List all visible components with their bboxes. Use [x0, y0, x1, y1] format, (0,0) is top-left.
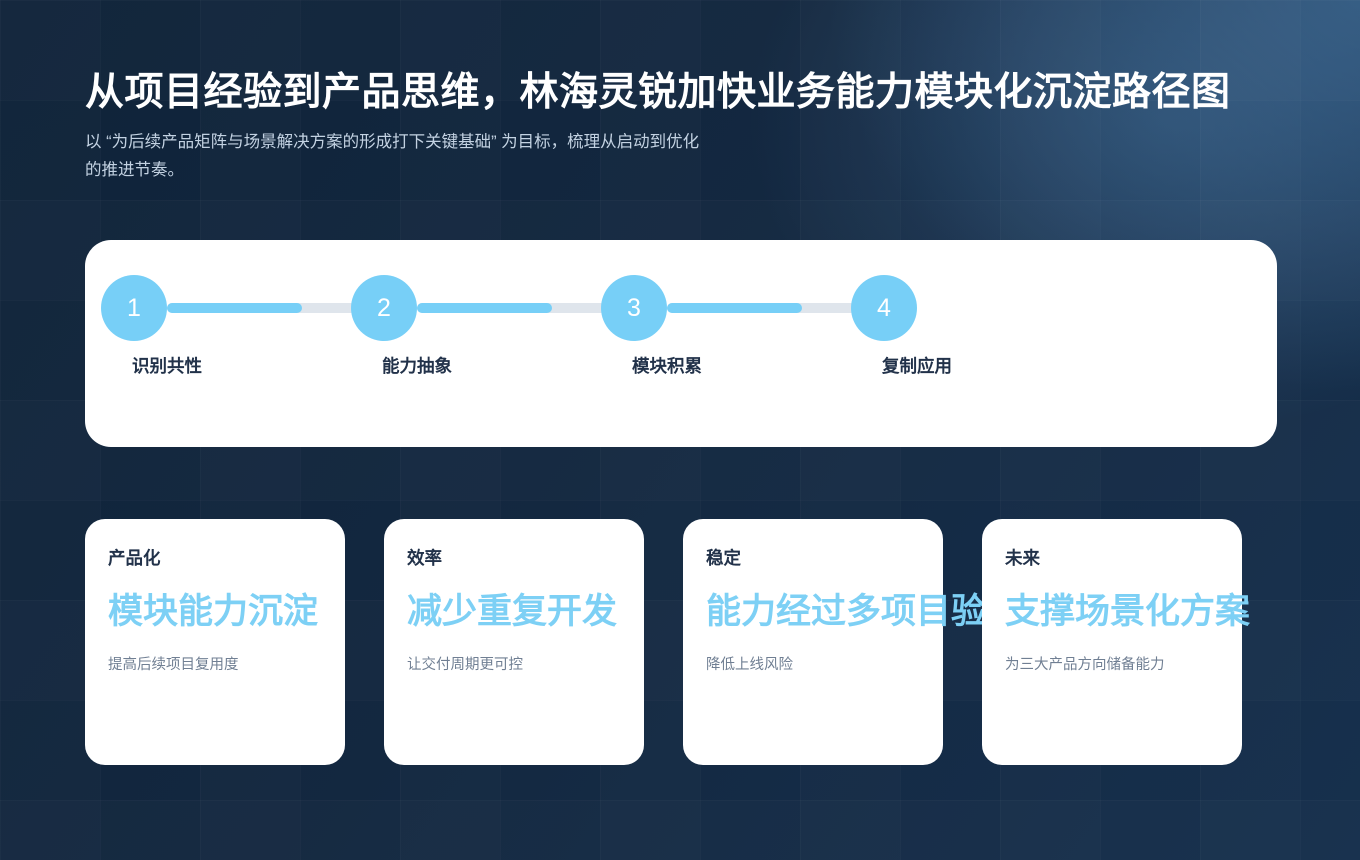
- stepper: 1 识别共性 2 能力抽象 3 模块积累 4 复制应用: [134, 240, 1228, 447]
- step-connector-2-3-fill: [417, 303, 552, 313]
- info-card-4-description: 为三大产品方向储备能力: [1005, 655, 1242, 675]
- header: 从项目经验到产品思维，林海灵锐加快业务能力模块化沉淀路径图 以 “为后续产品矩阵…: [85, 70, 1285, 185]
- page-subtitle: 以 “为后续产品矩阵与场景解决方案的形成打下关键基础” 为目标，梳理从启动到优化…: [85, 128, 1285, 185]
- info-card-3[interactable]: 稳定 能力经过多项目验证 降低上线风险: [683, 519, 943, 765]
- info-card-1-description: 提高后续项目复用度: [108, 655, 345, 675]
- info-card-4-eyebrow: 未来: [1005, 550, 1242, 568]
- step-connector-3-4-fill: [667, 303, 802, 313]
- info-card-1-eyebrow: 产品化: [108, 550, 345, 568]
- info-card-1[interactable]: 产品化 模块能力沉淀 提高后续项目复用度: [85, 519, 345, 765]
- info-card-3-content: 稳定 能力经过多项目验证 降低上线风险: [706, 550, 943, 676]
- info-card-1-content: 产品化 模块能力沉淀 提高后续项目复用度: [108, 550, 345, 676]
- info-card-4-headline: 支撑场景化方案: [1005, 594, 1242, 631]
- stepper-panel: 1 识别共性 2 能力抽象 3 模块积累 4 复制应用: [85, 240, 1277, 447]
- page-subtitle-line-2: 的推进节奏。: [85, 156, 1285, 184]
- info-card-4[interactable]: 未来 支撑场景化方案 为三大产品方向储备能力: [982, 519, 1242, 765]
- step-connector-1-2-fill: [167, 303, 302, 313]
- info-card-2-description: 让交付周期更可控: [407, 655, 644, 675]
- step-number-badge-1[interactable]: 1: [101, 275, 167, 341]
- info-card-1-headline: 模块能力沉淀: [108, 594, 345, 631]
- page-subtitle-line-1: 以 “为后续产品矩阵与场景解决方案的形成打下关键基础” 为目标，梳理从启动到优化: [85, 128, 1285, 156]
- step-label-3: 模块积累: [632, 353, 702, 378]
- info-card-list: 产品化 模块能力沉淀 提高后续项目复用度 效率 减少重复开发 让交付周期更可控 …: [85, 519, 1277, 765]
- step-number-badge-2[interactable]: 2: [351, 275, 417, 341]
- step-label-2: 能力抽象: [382, 353, 452, 378]
- info-card-3-headline: 能力经过多项目验证: [706, 594, 943, 631]
- page-title: 从项目经验到产品思维，林海灵锐加快业务能力模块化沉淀路径图: [85, 70, 1285, 116]
- info-card-2-eyebrow: 效率: [407, 550, 644, 568]
- step-label-1: 识别共性: [132, 353, 202, 378]
- info-card-3-description: 降低上线风险: [706, 655, 943, 675]
- info-card-2-content: 效率 减少重复开发 让交付周期更可控: [407, 550, 644, 676]
- step-number-badge-4[interactable]: 4: [851, 275, 917, 341]
- info-card-2-headline: 减少重复开发: [407, 594, 644, 631]
- info-card-2[interactable]: 效率 减少重复开发 让交付周期更可控: [384, 519, 644, 765]
- step-label-4: 复制应用: [882, 353, 952, 378]
- info-card-3-eyebrow: 稳定: [706, 550, 943, 568]
- info-card-4-content: 未来 支撑场景化方案 为三大产品方向储备能力: [1005, 550, 1242, 676]
- step-number-badge-3[interactable]: 3: [601, 275, 667, 341]
- stepper-track: 1 识别共性 2 能力抽象 3 模块积累 4 复制应用: [134, 308, 924, 515]
